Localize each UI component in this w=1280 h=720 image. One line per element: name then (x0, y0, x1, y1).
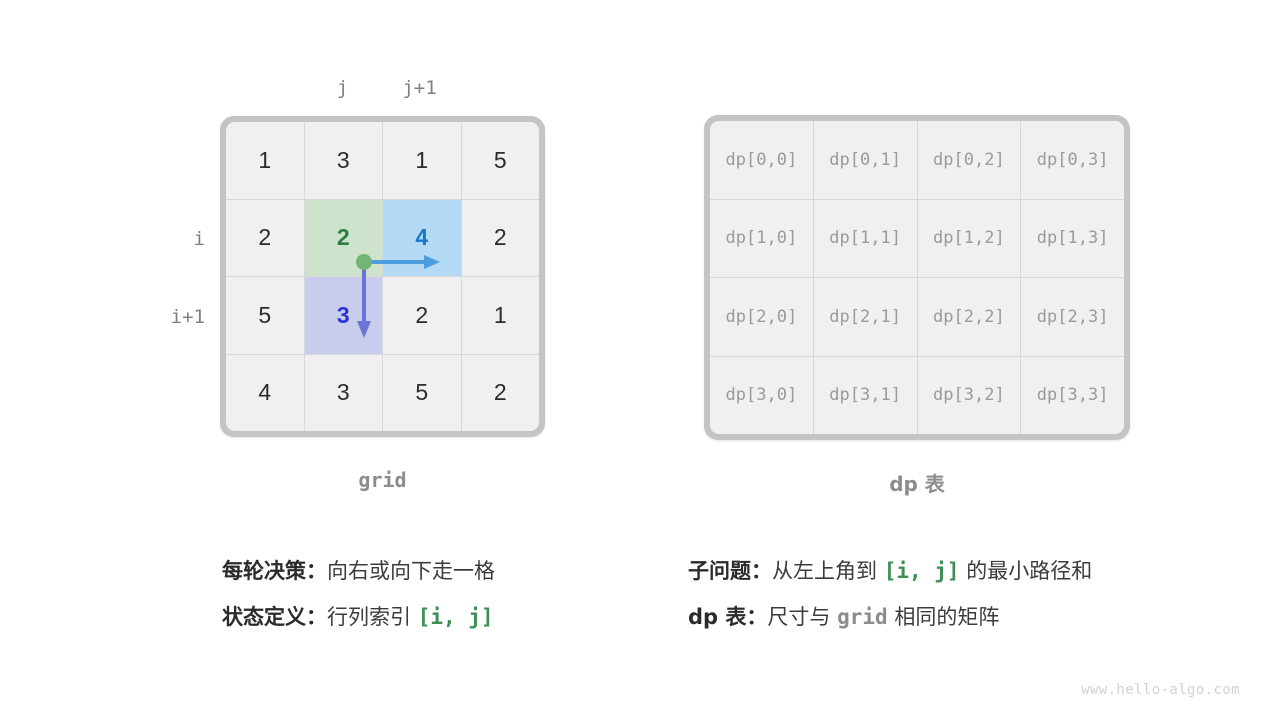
dp-cell: dp[0,0] (710, 121, 813, 199)
grid-matrix: 1 3 1 5 2 2 4 2 5 3 2 1 4 3 5 2 (220, 116, 545, 437)
annotation-tail: 的最小路径和 (960, 559, 1093, 583)
dp-cell: dp[3,0] (710, 357, 813, 435)
grid-cell: 2 (383, 277, 461, 354)
annotation-sep: ： (751, 559, 772, 583)
annotation-body: 行列索引 (327, 605, 418, 629)
dp-cell: dp[1,0] (710, 200, 813, 278)
grid-cell: 5 (383, 355, 461, 432)
dp-cell: dp[3,1] (814, 357, 917, 435)
column-label-j-plus-1: j+1 (381, 77, 458, 99)
grid-cell: 2 (226, 200, 304, 277)
row-label-i: i (125, 228, 205, 250)
dp-cell: dp[2,3] (1021, 278, 1124, 356)
grid-cell: 4 (226, 355, 304, 432)
annotation-sep: ： (306, 605, 327, 629)
dp-matrix: dp[0,0] dp[0,1] dp[0,2] dp[0,3] dp[1,0] … (704, 115, 1130, 440)
annotation-body: 尺寸与 (767, 605, 837, 629)
dp-cell: dp[0,3] (1021, 121, 1124, 199)
annotation-line: 状态定义：行列索引 [i, j] (222, 594, 495, 640)
dp-cell: dp[3,2] (918, 357, 1021, 435)
dp-cell: dp[1,3] (1021, 200, 1124, 278)
grid-cell: 2 (462, 355, 540, 432)
annotation-body: 向右或向下走一格 (327, 559, 495, 583)
annotation-lead: 每轮决策 (222, 559, 306, 583)
dp-cell: dp[2,2] (918, 278, 1021, 356)
annotation-line: 每轮决策：向右或向下走一格 (222, 548, 495, 594)
grid-cell-current: 2 (305, 200, 383, 277)
grid-cell: 3 (305, 122, 383, 199)
annotation-sep: ： (306, 559, 327, 583)
left-annotations: 每轮决策：向右或向下走一格 状态定义：行列索引 [i, j] (222, 548, 495, 640)
diagram-canvas: j j+1 i i+1 1 3 1 5 2 2 4 2 5 3 2 1 4 3 … (0, 0, 1280, 720)
annotation-sep: ： (746, 605, 767, 629)
grid-cell-down-choice: 3 (305, 277, 383, 354)
grid-cell: 5 (226, 277, 304, 354)
dp-cell: dp[1,1] (814, 200, 917, 278)
annotation-lead: 子问题 (688, 559, 751, 583)
grid-cell: 1 (462, 277, 540, 354)
dp-matrix-cells: dp[0,0] dp[0,1] dp[0,2] dp[0,3] dp[1,0] … (710, 121, 1124, 434)
dp-cell: dp[1,2] (918, 200, 1021, 278)
annotation-lead: 状态定义 (222, 605, 306, 629)
watermark: www.hello-algo.com (1081, 682, 1240, 698)
dp-cell: dp[0,1] (814, 121, 917, 199)
right-annotations: 子问题：从左上角到 [i, j] 的最小路径和 dp 表：尺寸与 grid 相同… (688, 548, 1092, 640)
dp-cell: dp[2,0] (710, 278, 813, 356)
dp-caption: dp 表 (704, 468, 1130, 497)
annotation-code: grid (837, 605, 888, 629)
grid-cell: 3 (305, 355, 383, 432)
annotation-code: [i, j] (418, 605, 494, 629)
annotation-tail: 相同的矩阵 (888, 605, 1000, 629)
annotation-line: 子问题：从左上角到 [i, j] 的最小路径和 (688, 548, 1092, 594)
annotation-line: dp 表：尺寸与 grid 相同的矩阵 (688, 594, 1092, 640)
grid-caption: grid (220, 468, 545, 492)
grid-cell-right-choice: 4 (383, 200, 461, 277)
annotation-code: [i, j] (884, 559, 960, 583)
column-label-j: j (304, 77, 381, 99)
grid-cell: 5 (462, 122, 540, 199)
grid-matrix-cells: 1 3 1 5 2 2 4 2 5 3 2 1 4 3 5 2 (226, 122, 539, 431)
dp-cell: dp[0,2] (918, 121, 1021, 199)
grid-cell: 1 (383, 122, 461, 199)
grid-cell: 1 (226, 122, 304, 199)
annotation-lead: dp 表 (688, 605, 746, 629)
grid-cell: 2 (462, 200, 540, 277)
row-label-i-plus-1: i+1 (125, 306, 205, 328)
annotation-body: 从左上角到 (772, 559, 884, 583)
dp-cell: dp[2,1] (814, 278, 917, 356)
dp-cell: dp[3,3] (1021, 357, 1124, 435)
